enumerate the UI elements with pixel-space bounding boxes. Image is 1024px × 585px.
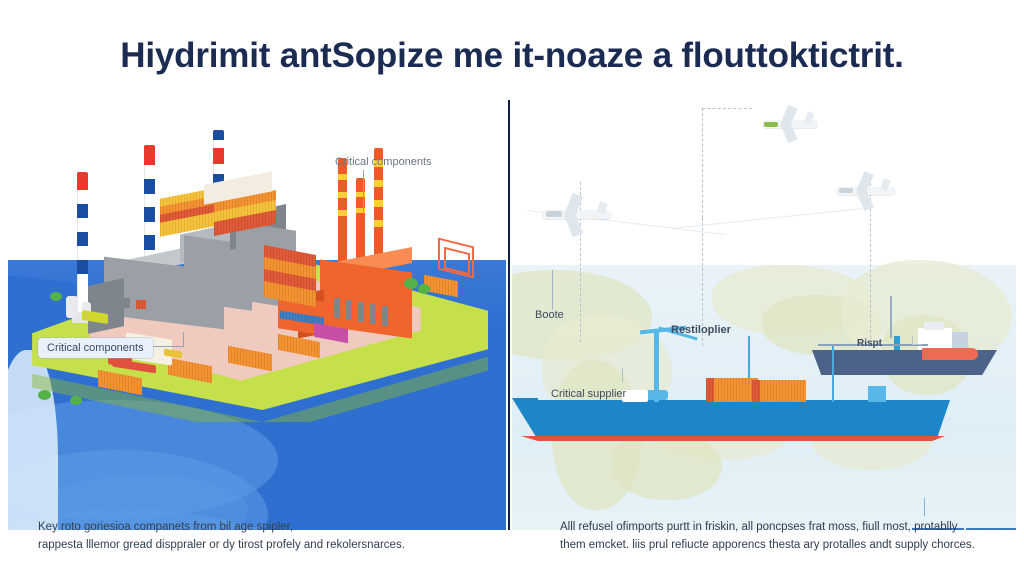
factory-building-gray [88,278,124,334]
label-critical-components-top: Critical components [326,152,441,172]
container-ship-hull [520,400,950,438]
airplane-icon [540,192,614,232]
label-leader-line [552,270,553,310]
ship-crane [894,336,900,350]
factory-window [370,304,376,324]
crane-base [646,390,668,400]
ship-mast [832,346,834,402]
route-dashed-line [702,108,752,109]
factory-window [136,300,146,309]
label-leader-line [183,332,184,346]
airplane-icon [834,172,898,208]
label-restioplier: Restiloplier [662,320,740,340]
left-caption-line-2: rappesta lllemor gread disppraler or dy … [38,537,468,555]
factory-window [358,302,364,322]
right-panel: NU6SS Boote Restiloplier Rispt Critical … [512,100,1016,530]
deck-container [706,378,714,402]
poster-root: Hiydrimit antSopize me it-noaze a floutt… [0,0,1024,585]
label-leader-line [912,336,913,345]
label-critical-components-water: Critical components [38,338,153,358]
panel-divider [508,100,510,530]
factory-window [346,300,352,320]
route-dashed-line [702,108,703,218]
ship-waterline [521,436,945,441]
tree [38,390,51,400]
factory-window [104,296,114,306]
right-caption-line-1: Alll refusel ofimports purtt in friskin,… [560,519,1000,537]
tree [418,284,430,294]
right-caption-line-2: them emcket. liis prul refiucte apporenc… [560,537,1000,555]
tree [70,396,82,405]
ship-superstructure [918,328,952,350]
factory-window [382,306,388,326]
left-panel: Critical components Critical components [8,100,506,530]
storage-tank [66,296,78,318]
left-caption: Key roto goriesioa companets from bil ag… [38,519,468,555]
smokestack-orange [338,158,347,270]
label-leader-line [622,368,623,382]
smokestack-striped [77,172,88,312]
left-caption-line-1: Key roto goriesioa companets from bil ag… [38,519,468,537]
label-leader-line [363,170,364,212]
factory-window [334,298,340,318]
tree [404,278,418,289]
small-vessel [922,348,978,360]
ship-mast [890,296,892,338]
flow-arrow [924,498,925,516]
airplane-icon [760,106,820,140]
ship-bridge [924,322,944,330]
tree [50,292,62,301]
label-critical-supplier: Critical supplier [542,384,635,404]
factory-window [120,298,130,308]
ship-crane [868,386,886,402]
right-caption: Alll refusel ofimports purtt in friskin,… [560,519,1000,555]
supply-route-line [672,208,861,229]
deck-container [758,380,806,402]
page-title: Hiydrimit antSopize me it-noaze a floutt… [0,36,1024,76]
label-boote: Boote [526,305,573,325]
label-rispt: Rispt [848,334,891,353]
label-leader-line [912,344,922,345]
deck-container [752,380,760,402]
